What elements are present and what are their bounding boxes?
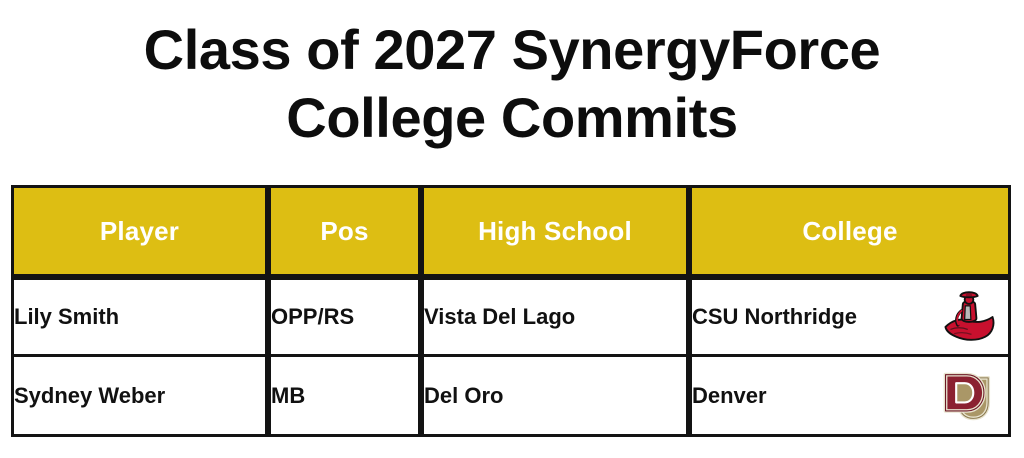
column-header-school: High School [421,185,689,277]
page-title-line-2: College Commits [0,84,1024,152]
cell-school: Vista Del Lago [421,277,689,357]
cell-player: Sydney Weber [11,357,268,437]
cell-pos: OPP/RS [268,277,421,357]
table-body: Lily Smith OPP/RS Vista Del Lago CSU Nor… [11,277,1011,437]
table-header: Player Pos High School College [11,185,1011,277]
cell-player: Lily Smith [11,277,268,357]
table-row: Sydney Weber MB Del Oro Denver [11,357,1011,437]
page-title-line-1: Class of 2027 SynergyForce [0,16,1024,84]
cell-college: CSU Northridge [689,277,1011,357]
column-header-college: College [689,185,1011,277]
college-name: CSU Northridge [692,304,857,330]
table-header-row: Player Pos High School College [11,185,1011,277]
cell-pos: MB [268,357,421,437]
table-row: Lily Smith OPP/RS Vista Del Lago CSU Nor… [11,277,1011,357]
commits-graphic: Class of 2027 SynergyForce College Commi… [0,0,1024,458]
college-name: Denver [692,383,767,409]
college-commits-table: Player Pos High School College Lily Smit… [11,185,1011,437]
page-title: Class of 2027 SynergyForce College Commi… [0,16,1024,153]
column-header-player: Player [11,185,268,277]
csu-northridge-matador-logo [936,284,1002,350]
column-header-pos: Pos [268,185,421,277]
denver-pioneers-du-logo [936,363,1002,429]
cell-college: Denver [689,357,1011,437]
cell-school: Del Oro [421,357,689,437]
